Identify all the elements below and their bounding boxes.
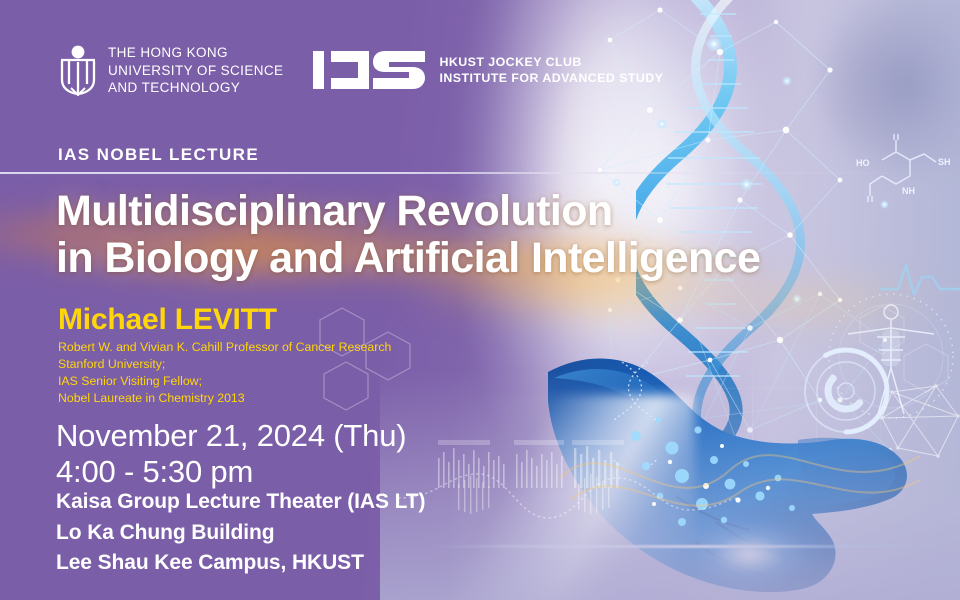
hkust-emblem-icon	[58, 44, 98, 96]
event-date-time: November 21, 2024 (Thu) 4:00 - 5:30 pm	[56, 418, 406, 490]
ias-logo-text: HKUST JOCKEY CLUB INSTITUTE FOR ADVANCED…	[439, 54, 663, 87]
ias-logo[interactable]: HKUST JOCKEY CLUB INSTITUTE FOR ADVANCED…	[313, 47, 663, 93]
hkust-logo-text: THE HONG KONG UNIVERSITY OF SCIENCE AND …	[108, 44, 283, 97]
page-title: Multidisciplinary Revolution in Biology …	[56, 188, 936, 283]
speaker-name: Michael LEVITT	[58, 303, 277, 337]
ias-wordmark-icon	[313, 47, 425, 93]
hkust-logo[interactable]: THE HONG KONG UNIVERSITY OF SCIENCE AND …	[58, 44, 283, 97]
speaker-credentials: Robert W. and Vivian K. Cahill Professor…	[58, 339, 391, 407]
event-venue: Kaisa Group Lecture Theater (IAS LT) Lo …	[56, 487, 425, 579]
poster-content: THE HONG KONG UNIVERSITY OF SCIENCE AND …	[0, 0, 960, 600]
header-divider	[0, 172, 960, 174]
lecture-poster: HO SH NH	[0, 0, 960, 600]
kicker-label: IAS NOBEL LECTURE	[58, 145, 259, 165]
logo-bar: THE HONG KONG UNIVERSITY OF SCIENCE AND …	[58, 44, 663, 97]
